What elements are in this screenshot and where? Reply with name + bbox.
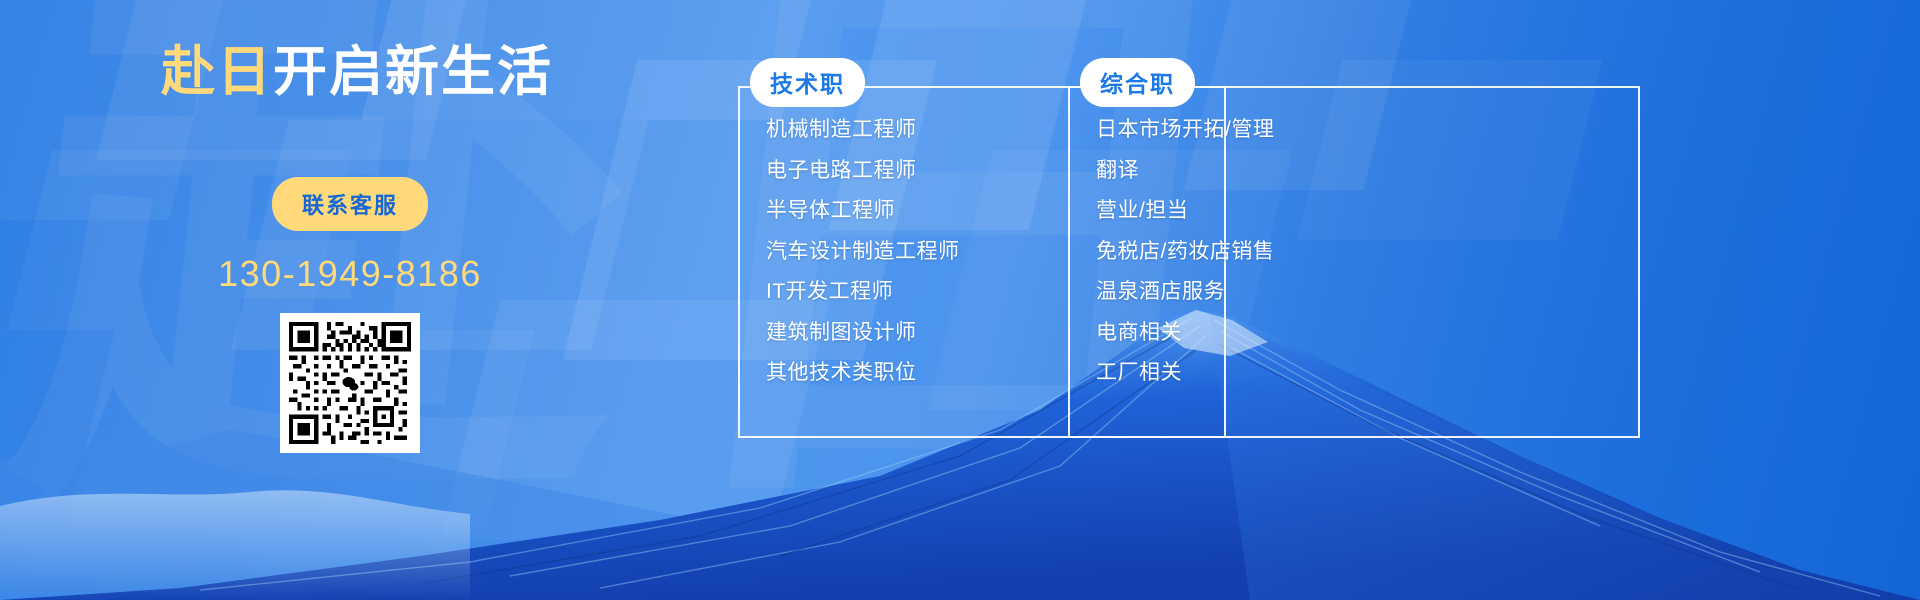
list-item[interactable]: 工厂相关 (1096, 353, 1656, 394)
list-item[interactable]: 营业/担当 (1096, 191, 1656, 232)
page-title: 赴日开启新生活 (0, 40, 700, 105)
list-item[interactable]: 日本市场开拓/管理 (1096, 110, 1656, 151)
promo-left-column: 赴日开启新生活 联系客服 130-1949-8186 (0, 40, 700, 458)
contact-support-button[interactable]: 联系客服 (272, 177, 428, 231)
qr-code-icon (289, 322, 411, 444)
job-group-general-title: 综合职 (1080, 58, 1195, 107)
headline-accent: 赴日 (161, 42, 273, 102)
promo-banner: 赴日 (0, 0, 1920, 600)
job-group-tech-title: 技术职 (750, 58, 865, 107)
list-item[interactable]: 免税店/药妆店销售 (1096, 232, 1656, 273)
headline-plain: 开启新生活 (273, 42, 553, 102)
wechat-qr-code[interactable] (280, 313, 420, 453)
list-item[interactable]: 温泉酒店服务 (1096, 272, 1656, 313)
list-item[interactable]: 翻译 (1096, 151, 1656, 192)
phone-number: 130-1949-8186 (0, 253, 700, 295)
job-list-general: 日本市场开拓/管理 翻译 营业/担当 免税店/药妆店销售 温泉酒店服务 电商相关… (1096, 110, 1656, 394)
list-item[interactable]: 电商相关 (1096, 313, 1656, 354)
